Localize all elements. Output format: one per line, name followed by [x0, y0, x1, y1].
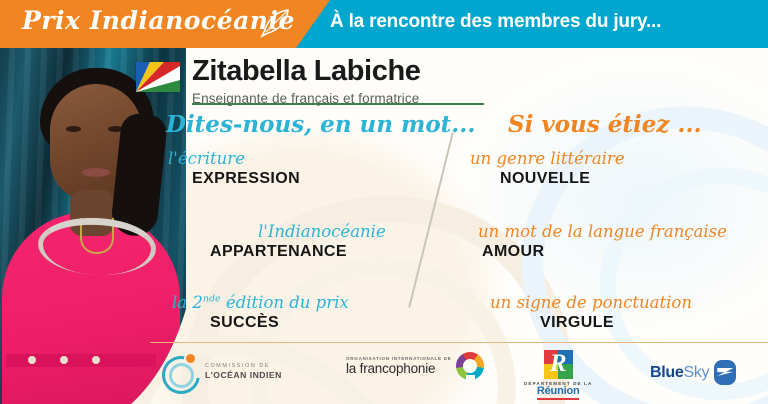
footer-divider — [150, 342, 768, 343]
poster-canvas: Prix Indianocéanie À la rencontre des me… — [0, 0, 768, 404]
right-column: Si vous étiez ... un genre littéraire NO… — [450, 112, 766, 332]
qa-prompt: un genre littéraire — [470, 150, 766, 168]
coi-logo-icon — [162, 354, 198, 390]
bluesky-logo-line2: Sky — [683, 364, 709, 382]
coi-logo-line2: L'OCÉAN INDIEN — [205, 370, 282, 381]
reunion-logo-line2: Réunion — [537, 386, 580, 397]
qa-prompt: la 2nde édition du prix — [172, 294, 450, 312]
qa-prompt: un mot de la langue française — [478, 223, 766, 241]
header-subtitle: À la rencontre des membres du jury... — [330, 11, 760, 41]
reunion-logo-bar — [537, 398, 579, 400]
logo-organisation-internationale-francophonie: ORGANISATION INTERNATIONALE DE la franco… — [346, 352, 484, 380]
qa-prompt: l'écriture — [168, 150, 450, 168]
qa-prompt: l'Indianocéanie — [258, 223, 450, 241]
qa-answer: EXPRESSION — [192, 169, 450, 188]
coi-logo-line1: COMMISSION DE — [205, 363, 282, 370]
reunion-logo-letter: R — [544, 350, 573, 379]
bluesky-logo-line1: Blue — [650, 364, 683, 382]
right-column-heading: Si vous étiez ... — [508, 112, 766, 137]
oif-logo-line2: la francophonie — [346, 361, 452, 377]
name-underline — [192, 103, 484, 105]
seychelles-flag-icon — [136, 62, 180, 92]
profile-name-block: Zitabella Labiche Enseignante de françai… — [192, 57, 421, 106]
reunion-logo-icon: R — [544, 350, 573, 379]
logo-departement-reunion: R DÉPARTEMENT DE LA Réunion — [524, 350, 592, 400]
qa-pair: la 2nde édition du prix SUCCÈS — [150, 294, 450, 332]
qa-answer: SUCCÈS — [210, 313, 450, 332]
qa-pair: un genre littéraire NOUVELLE — [450, 150, 766, 188]
left-column: Dites-nous, en un mot... l'écriture EXPR… — [150, 112, 450, 332]
bluesky-swoosh-icon — [714, 360, 736, 385]
footer-logos: COMMISSION DE L'OCÉAN INDIEN ORGANISATIO… — [150, 348, 768, 400]
qa-pair: un mot de la langue française AMOUR — [450, 223, 766, 261]
header-bar: Prix Indianocéanie À la rencontre des me… — [0, 0, 768, 48]
left-column-heading: Dites-nous, en un mot... — [166, 112, 450, 137]
feather-quill-icon — [258, 6, 292, 40]
logo-bluesky: Blue Sky — [650, 360, 736, 385]
qa-prompt-pre: la 2 — [172, 293, 203, 312]
qa-answer: AMOUR — [482, 242, 766, 261]
qa-pair: l'écriture EXPRESSION — [150, 150, 450, 188]
qa-answer: NOUVELLE — [500, 169, 766, 188]
qa-answer: APPARTENANCE — [210, 242, 450, 261]
francophonie-ring-icon — [456, 352, 484, 380]
qa-prompt-sup: nde — [203, 293, 221, 304]
page-title: Zitabella Labiche — [192, 57, 421, 86]
brand-title: Prix Indianocéanie — [22, 6, 292, 44]
qa-prompt-post: édition du prix — [221, 293, 349, 312]
logo-commission-ocean-indien: COMMISSION DE L'OCÉAN INDIEN — [162, 354, 282, 390]
qa-prompt: un signe de ponctuation — [490, 294, 766, 312]
qa-answer: VIRGULE — [540, 313, 766, 332]
qa-pair: l'Indianocéanie APPARTENANCE — [150, 223, 450, 261]
qa-pair: un signe de ponctuation VIRGULE — [450, 294, 766, 332]
